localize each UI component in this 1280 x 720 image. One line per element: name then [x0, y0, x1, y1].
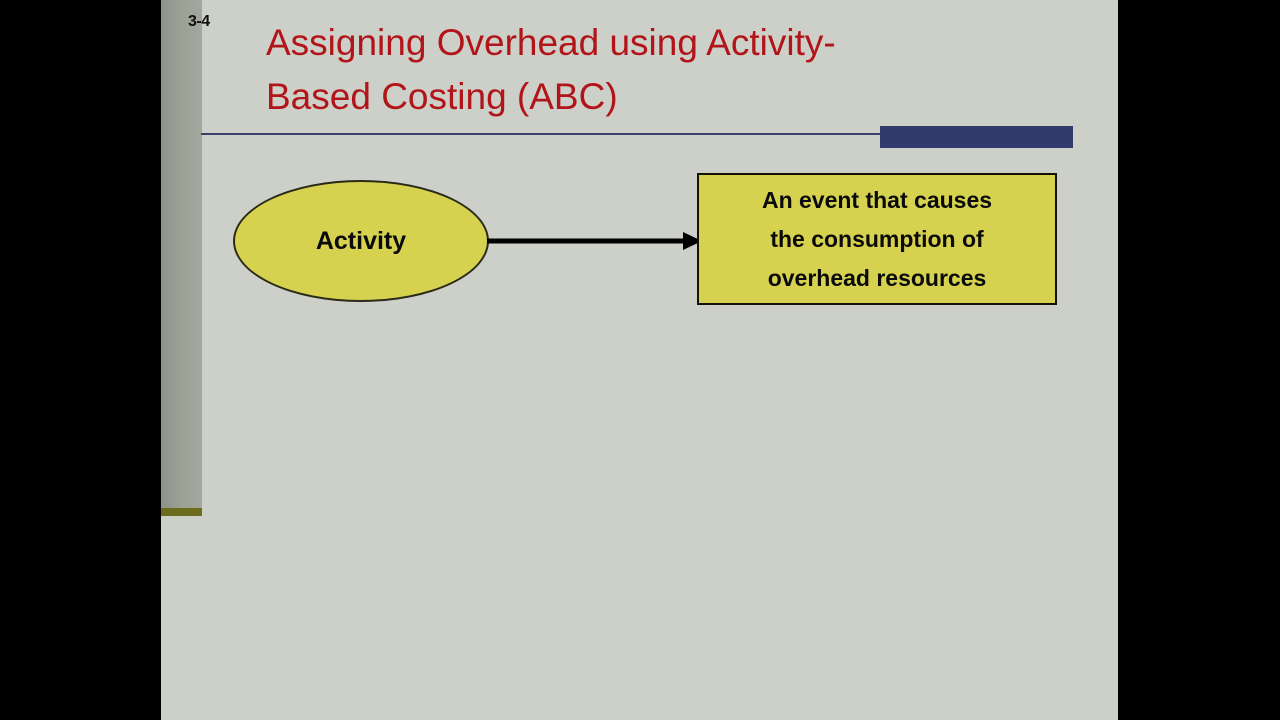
activity-definition-callout: An event that causes the consumption of … [697, 173, 1057, 305]
activity-node: Activity [233, 180, 489, 302]
slide-canvas: 3-4 Assigning Overhead using Activity- B… [161, 0, 1118, 720]
abc-diagram: Activity An event that causes the consum… [161, 0, 1118, 720]
activity-node-label: Activity [316, 227, 406, 256]
presentation-frame: 3-4 Assigning Overhead using Activity- B… [0, 0, 1280, 720]
letterbox-bar-right [1118, 0, 1280, 720]
activity-definition-line-1: An event that causes [762, 181, 992, 220]
activity-definition-line-2: the consumption of [770, 220, 983, 259]
letterbox-bar-left [0, 0, 161, 720]
activity-definition-line-3: overhead resources [768, 259, 987, 298]
arrow-right-icon [487, 229, 702, 253]
slide-number: 3-4 [188, 13, 210, 31]
